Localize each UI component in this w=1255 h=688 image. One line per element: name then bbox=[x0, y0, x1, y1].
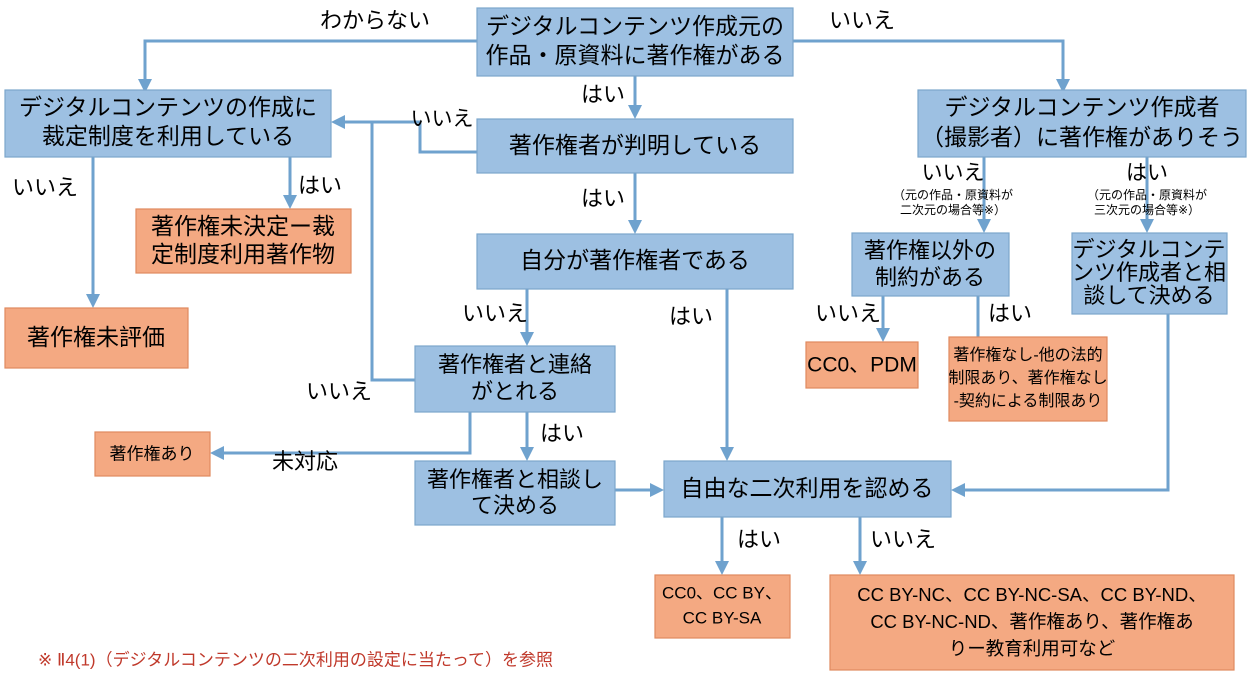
edge-source-to-ruling bbox=[138, 41, 477, 93]
edge-sublabel-creator-iie-2: 二次元の場合等※） bbox=[900, 202, 1006, 217]
node-no-copyright-legal-line3: -契約による制限あり bbox=[954, 392, 1103, 410]
node-consult-creator-line3: 談して決める bbox=[1083, 283, 1214, 308]
edge-label-contact-hai: はい bbox=[540, 421, 584, 446]
edge-label-holderknown-hai: はい bbox=[581, 186, 625, 211]
edge-sublabel-creator-iie-1: （元の作品・原資料が bbox=[893, 187, 1013, 202]
edge-allowreuse-to-cc0ccby bbox=[715, 517, 729, 575]
edge-label-reuse-iie: いいえ bbox=[870, 527, 936, 552]
edge-label-contact-iie: いいえ bbox=[306, 379, 372, 404]
footnote-reference: ※ Ⅱ4(1)（デジタルコンテンツの二次利用の設定に当たって）を参照 bbox=[38, 649, 553, 669]
node-unevaluated[interactable]: 著作権未評価 bbox=[5, 308, 188, 368]
edge-allowreuse-to-ccrestricted bbox=[853, 517, 867, 575]
node-cc0-ccby[interactable]: CC0、CC BY、 CC BY-SA bbox=[655, 575, 790, 638]
edge-label-holderknown-iie: いいえ bbox=[411, 108, 474, 131]
node-ruling-system-line1: デジタルコンテンツの作成に bbox=[19, 94, 317, 120]
node-consult-holder[interactable]: 著作権者と相談し て決める bbox=[415, 461, 615, 525]
node-allow-reuse-line1: 自由な二次利用を認める bbox=[681, 475, 934, 501]
node-cc-restricted[interactable]: CC BY-NC、CC BY-NC-SA、CC BY-ND、 CC BY-NC-… bbox=[830, 575, 1234, 670]
edge-label-mitaiou: 未対応 bbox=[272, 449, 338, 474]
node-source-copyright-line2: 作品・原資料に著作権がある bbox=[486, 42, 785, 68]
node-contact-holder-line2: がとれる bbox=[471, 379, 559, 404]
node-ruling-system[interactable]: デジタルコンテンツの作成に 裁定制度を利用している bbox=[5, 90, 331, 157]
node-has-copyright[interactable]: 著作権あり bbox=[95, 432, 210, 476]
edge-contact-to-hascopyright bbox=[210, 412, 470, 460]
node-holder-known[interactable]: 著作権者が判明している bbox=[477, 119, 793, 173]
edge-label-source-hai: はい bbox=[581, 82, 625, 107]
edge-ruling-to-undetermined bbox=[283, 157, 297, 209]
node-cc-restricted-line1: CC BY-NC、CC BY-NC-SA、CC BY-ND、 bbox=[857, 584, 1207, 605]
copyright-decision-flowchart: わからない いいえ はい いいえ はい いいえ はい いいえ はい いいえ はい… bbox=[0, 0, 1255, 688]
edge-sublabel-creator-hai-1: （元の作品・原資料が bbox=[1087, 187, 1207, 202]
edge-label-restriction-hai: はい bbox=[988, 301, 1032, 326]
node-undetermined[interactable]: 著作権未決定ー裁 定制度利用著作物 bbox=[136, 209, 351, 273]
edge-source-to-holderknown bbox=[628, 76, 642, 119]
node-undetermined-line1: 著作権未決定ー裁 bbox=[151, 213, 335, 239]
node-no-copyright-legal[interactable]: 著作権なし-他の法的 制限あり、著作権なし -契約による制限あり bbox=[948, 337, 1107, 421]
edge-label-self-iie: いいえ bbox=[462, 301, 528, 326]
edge-label-self-hai: はい bbox=[669, 304, 713, 329]
node-has-copyright-line1: 著作権あり bbox=[110, 444, 195, 463]
edge-label-reuse-hai: はい bbox=[737, 527, 781, 552]
node-cc0-ccby-line1: CC0、CC BY、 bbox=[662, 583, 782, 602]
edge-label-ruling-hai: はい bbox=[298, 173, 342, 198]
edge-label-wakaranai: わからない bbox=[320, 8, 430, 33]
edge-label-creator-hai: はい bbox=[1126, 162, 1168, 185]
node-holder-known-line1: 著作権者が判明している bbox=[509, 132, 761, 158]
edge-contact-to-consultholder bbox=[520, 412, 534, 461]
edge-label-creator-iie: いいえ bbox=[922, 162, 985, 185]
node-cc-restricted-line3: りー教育利用可など bbox=[949, 638, 1116, 659]
edge-consultholder-to-allowreuse bbox=[614, 483, 664, 497]
edge-label-ruling-iie: いいえ bbox=[12, 175, 78, 200]
node-creator-copyright-line2: （撮影者）に著作権がありそう bbox=[921, 124, 1243, 150]
node-cc-restricted-line2: CC BY-NC-ND、著作権あり、著作権あ bbox=[870, 611, 1193, 632]
edge-sublabel-creator-hai-2: 三次元の場合等※） bbox=[1094, 202, 1200, 217]
node-self-holder-line1: 自分が著作権者である bbox=[520, 247, 750, 273]
node-undetermined-line2: 定制度利用著作物 bbox=[151, 241, 335, 267]
node-self-holder[interactable]: 自分が著作権者である bbox=[477, 234, 793, 289]
node-consult-creator[interactable]: デジタルコンテ ンツ作成者と相 談して決める bbox=[1072, 233, 1227, 314]
node-contact-holder-line1: 著作権者と連絡 bbox=[438, 352, 592, 377]
node-ruling-system-line2: 裁定制度を利用している bbox=[42, 123, 294, 149]
node-contact-holder[interactable]: 著作権者と連絡 がとれる bbox=[415, 346, 615, 412]
node-source-copyright[interactable]: デジタルコンテンツ作成元の 作品・原資料に著作権がある bbox=[477, 8, 793, 76]
edge-label-restriction-iie: いいえ bbox=[815, 301, 881, 326]
node-cc0-pdm-line1: CC0、PDM bbox=[807, 354, 917, 377]
edge-label-top-iie: いいえ bbox=[829, 8, 895, 33]
edge-contact-to-ruling bbox=[372, 122, 415, 380]
node-no-copyright-legal-line2: 制限あり、著作権なし bbox=[948, 369, 1107, 387]
node-consult-creator-line2: ンツ作成者と相 bbox=[1072, 260, 1226, 285]
flowchart-canvas: わからない いいえ はい いいえ はい いいえ はい いいえ はい いいえ はい… bbox=[0, 0, 1255, 688]
node-other-restriction[interactable]: 著作権以外の 制約がある bbox=[852, 233, 1009, 296]
node-unevaluated-line1: 著作権未評価 bbox=[27, 324, 165, 350]
node-other-restriction-line1: 著作権以外の bbox=[864, 238, 996, 263]
node-consult-creator-line1: デジタルコンテ bbox=[1072, 237, 1225, 262]
node-source-copyright-line1: デジタルコンテンツ作成元の bbox=[486, 13, 784, 39]
node-no-copyright-legal-line1: 著作権なし-他の法的 bbox=[953, 346, 1102, 364]
edge-source-to-creator bbox=[793, 41, 1070, 93]
node-cc0-ccby-line2: CC BY-SA bbox=[683, 608, 762, 627]
node-allow-reuse[interactable]: 自由な二次利用を認める bbox=[664, 461, 951, 517]
node-consult-holder-line2: て決める bbox=[471, 493, 559, 518]
edge-ruling-to-unevaluated bbox=[86, 157, 100, 308]
edge-self-to-allowreuse bbox=[720, 289, 734, 461]
node-creator-copyright-line1: デジタルコンテンツ作成者 bbox=[944, 94, 1219, 120]
node-cc0-pdm[interactable]: CC0、PDM bbox=[806, 342, 918, 388]
node-consult-holder-line1: 著作権者と相談し bbox=[427, 467, 603, 492]
edge-holderknown-to-self bbox=[628, 173, 642, 234]
node-creator-copyright[interactable]: デジタルコンテンツ作成者 （撮影者）に著作権がありそう bbox=[918, 90, 1246, 157]
node-other-restriction-line2: 制約がある bbox=[875, 265, 985, 290]
